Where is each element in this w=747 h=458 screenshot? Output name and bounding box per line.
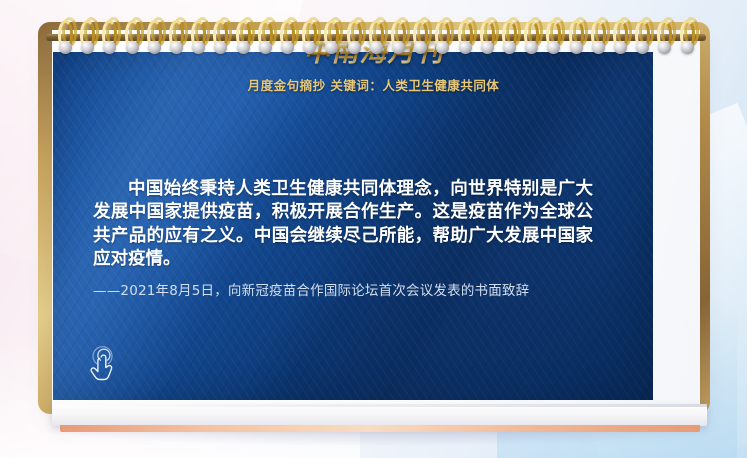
spiral-ring-grommet: [126, 41, 139, 54]
spiral-ring-grommet: [214, 41, 227, 54]
spiral-ring-grommet: [570, 41, 583, 54]
spiral-ring-grommet: [392, 41, 405, 54]
spiral-ring: [458, 20, 473, 54]
spiral-ring-grommet: [370, 41, 383, 54]
spiral-ring: [280, 20, 295, 54]
spiral-ring: [369, 20, 384, 54]
spiral-ring-grommet: [325, 41, 338, 54]
spiral-ring: [613, 20, 628, 54]
spiral-ring: [524, 20, 539, 54]
page-subtitle: 月度金句摘抄 关键词：人类卫生健康共同体: [0, 75, 747, 94]
spiral-ring-row: [52, 20, 700, 58]
spiral-ring: [391, 20, 406, 54]
spiral-ring-grommet: [459, 41, 472, 54]
calendar-card-scene: 中南海月刊 月度金句摘抄 关键词：人类卫生健康共同体 中国始终秉持人类卫生健康共…: [0, 0, 747, 458]
spiral-ring-grommet: [59, 41, 72, 54]
spiral-ring: [80, 20, 95, 54]
spiral-ring-grommet: [148, 41, 161, 54]
base-shadow: [46, 430, 714, 446]
calendar-base-strip: [60, 425, 700, 432]
spiral-ring: [591, 20, 606, 54]
spiral-ring: [58, 20, 73, 54]
spiral-ring-grommet: [658, 41, 671, 54]
spiral-ring-grommet: [525, 41, 538, 54]
spiral-ring: [502, 20, 517, 54]
spiral-ring: [102, 20, 117, 54]
spiral-ring-grommet: [636, 41, 649, 54]
spiral-ring-grommet: [414, 41, 427, 54]
spiral-ring: [125, 20, 140, 54]
spiral-ring: [213, 20, 228, 54]
spiral-ring-grommet: [170, 41, 183, 54]
quote-body-text: 中国始终秉持人类卫生健康共同体理念，向世界特别是广大发展中国家提供疫苗，积极开展…: [93, 178, 593, 271]
spiral-ring: [569, 20, 584, 54]
tap-hand-icon[interactable]: [88, 346, 122, 384]
spiral-ring-grommet: [614, 41, 627, 54]
spiral-ring-grommet: [436, 41, 449, 54]
spiral-ring-grommet: [281, 41, 294, 54]
spiral-ring-grommet: [103, 41, 116, 54]
spiral-ring-grommet: [259, 41, 272, 54]
spiral-ring: [147, 20, 162, 54]
spiral-ring: [191, 20, 206, 54]
spiral-ring: [657, 20, 672, 54]
spiral-ring-grommet: [592, 41, 605, 54]
calendar-base-plate: [52, 404, 707, 426]
spiral-ring-grommet: [192, 41, 205, 54]
spiral-ring: [480, 20, 495, 54]
spiral-ring: [635, 20, 650, 54]
spiral-ring: [169, 20, 184, 54]
spiral-ring: [236, 20, 251, 54]
spiral-ring: [258, 20, 273, 54]
spiral-ring: [546, 20, 561, 54]
spiral-ring: [302, 20, 317, 54]
spiral-ring-grommet: [681, 41, 694, 54]
quote-block: 中国始终秉持人类卫生健康共同体理念，向世界特别是广大发展中国家提供疫苗，积极开展…: [93, 178, 593, 301]
spiral-ring: [435, 20, 450, 54]
spiral-ring: [347, 20, 362, 54]
spiral-ring-grommet: [348, 41, 361, 54]
quote-attribution: ——2021年8月5日，向新冠疫苗合作国际论坛首次会议发表的书面致辞: [93, 281, 593, 301]
spiral-ring-grommet: [237, 41, 250, 54]
spiral-ring-grommet: [481, 41, 494, 54]
spiral-ring: [680, 20, 695, 54]
spiral-ring-grommet: [303, 41, 316, 54]
spiral-ring-grommet: [547, 41, 560, 54]
spiral-ring: [413, 20, 428, 54]
spiral-ring-grommet: [81, 41, 94, 54]
spiral-ring-grommet: [503, 41, 516, 54]
spiral-ring: [324, 20, 339, 54]
